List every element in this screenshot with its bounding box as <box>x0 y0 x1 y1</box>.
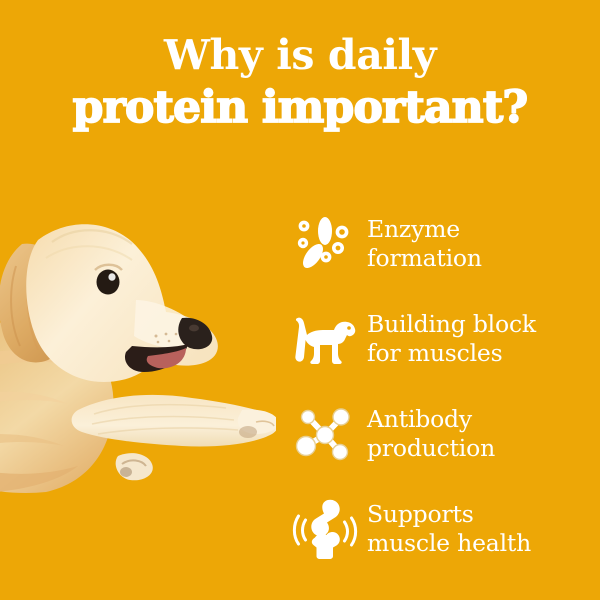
puppy-rear-paw <box>116 453 153 480</box>
feature-label-antibody-production: Antibody production <box>367 405 495 463</box>
feature-label-building-block: Building block for muscles <box>367 310 536 368</box>
heading-line-2: protein important? <box>0 81 600 134</box>
heading-line-1: Why is daily <box>0 30 600 80</box>
protein-infographic-poster: Why is daily protein important? <box>0 0 600 600</box>
feature-row-enzyme-formation: Enzyme formation <box>288 196 600 291</box>
feature-label-line-2: formation <box>367 244 482 273</box>
feature-label-line-2: for muscles <box>367 339 536 368</box>
feature-label-line-2: muscle health <box>367 529 531 558</box>
feature-label-line-1: Building block <box>367 310 536 339</box>
feature-label-supports-muscle-health: Supports muscle health <box>367 500 531 558</box>
page-title: Why is daily protein important? <box>0 30 600 134</box>
enzyme-icon <box>288 207 362 281</box>
feature-label-enzyme-formation: Enzyme formation <box>367 215 482 273</box>
puppy-eye <box>97 270 120 295</box>
feature-label-line-1: Enzyme <box>367 215 482 244</box>
dog-icon <box>288 302 362 376</box>
feature-list: Enzyme formation Building block for musc… <box>288 196 600 576</box>
puppy-head <box>26 224 218 382</box>
feature-label-line-1: Antibody <box>367 405 495 434</box>
puppy-illustration <box>0 196 276 496</box>
molecule-icon <box>288 397 362 471</box>
puppy-photo <box>0 196 276 496</box>
feature-row-building-block: Building block for muscles <box>288 291 600 386</box>
bone-joint-icon <box>288 492 362 566</box>
feature-row-supports-muscle-health: Supports muscle health <box>288 481 600 576</box>
feature-row-antibody-production: Antibody production <box>288 386 600 481</box>
feature-label-line-2: production <box>367 434 495 463</box>
feature-label-line-1: Supports <box>367 500 531 529</box>
